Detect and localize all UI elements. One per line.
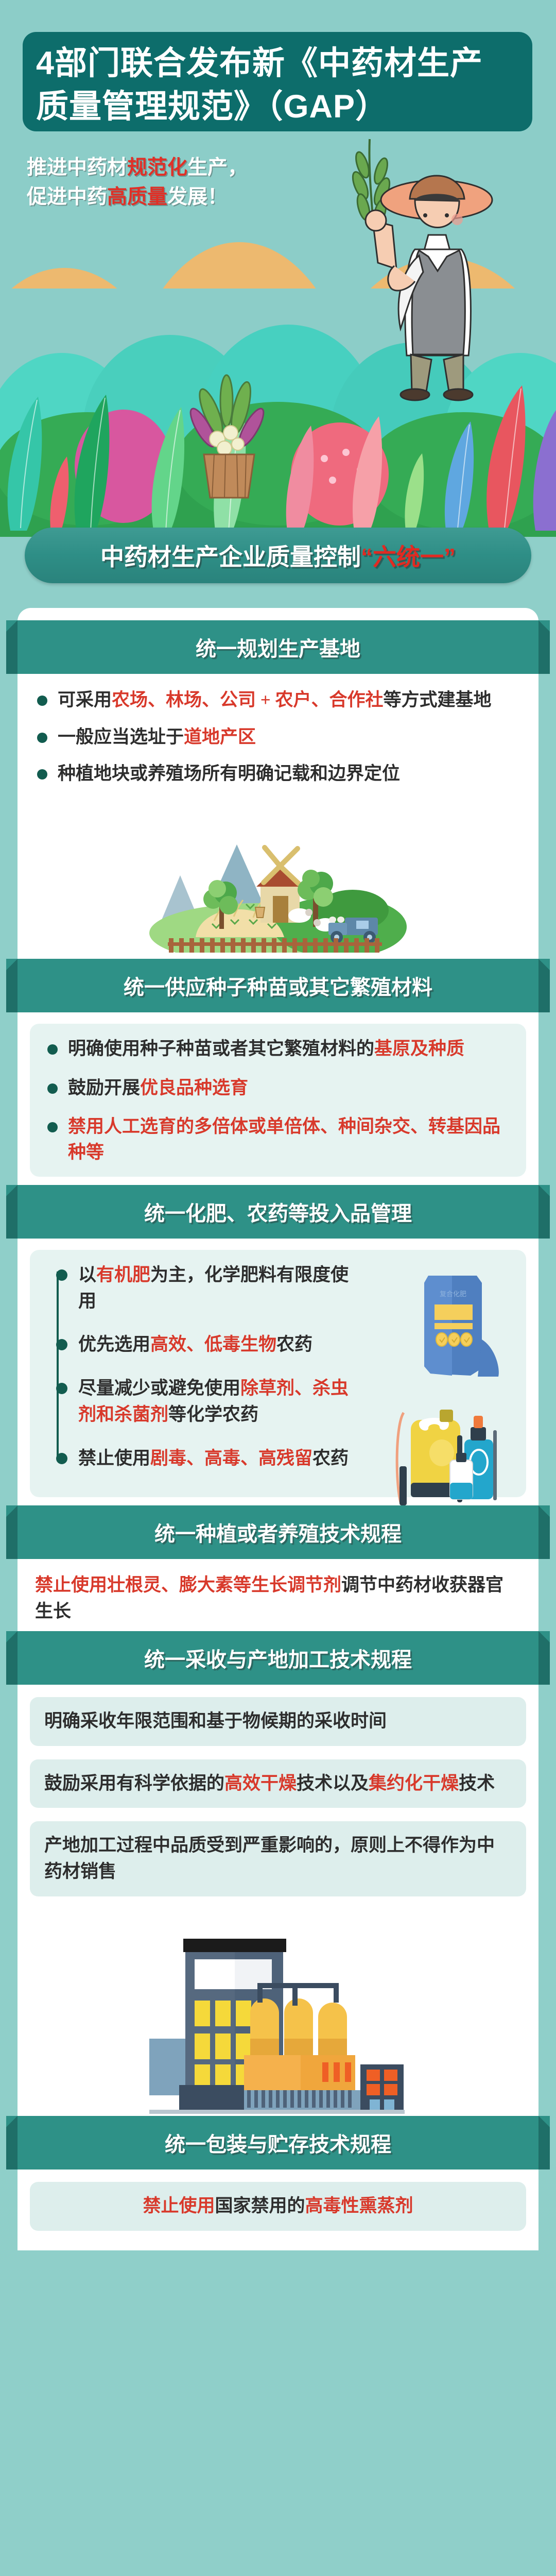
bullet-text: 禁止使用 bbox=[78, 1448, 150, 1468]
farmer-illustration bbox=[309, 134, 515, 402]
bullet-text: 种植地块或养殖场所有明确记载和边界定位 bbox=[58, 764, 400, 784]
hero-subtitle-line-1: 推进中药材规范化生产， bbox=[27, 154, 248, 183]
bullet-highlight: 高效、低毒生物 bbox=[150, 1334, 276, 1354]
list-item: 优先选用高效、低毒生物农药 bbox=[49, 1332, 358, 1358]
bullet-text: 优先选用 bbox=[78, 1334, 150, 1354]
bullet-highlight: 农场、林场、公司 + 农户、合作社 bbox=[112, 690, 383, 710]
section-header-unified-harvesting: 统一采收与产地加工技术规程 bbox=[6, 1631, 550, 1685]
info-card: 产地加工过程中品质受到严重影响的，原则上不得作为中药材销售 bbox=[30, 1821, 526, 1896]
info-card: 禁止使用国家禁用的高毒性熏蒸剂 bbox=[30, 2182, 526, 2231]
section-spacer bbox=[18, 2170, 538, 2182]
subtitle-text-d: 发展！ bbox=[167, 186, 228, 208]
infographic-page: 4部门联合发布新《中药材生产 质量管理规范》（GAP） 推进中药材规范化生产， … bbox=[0, 0, 556, 2576]
content-panel: 统一规划生产基地 可采用农场、林场、公司 + 农户、合作社等方式建基地 一般应当… bbox=[18, 608, 538, 2250]
section-header-unified-packaging: 统一包装与贮存技术规程 bbox=[6, 2116, 550, 2170]
hero-title-plate: 4部门联合发布新《中药材生产 质量管理规范》（GAP） bbox=[23, 32, 532, 131]
bullet-highlight: 剧毒、高毒、高残留 bbox=[150, 1448, 312, 1468]
info-card: 明确采收年限范围和基于物候期的采收时间 bbox=[30, 1697, 526, 1746]
section-title: 统一规划生产基地 bbox=[196, 632, 360, 662]
bullet-text: 农药 bbox=[312, 1448, 349, 1468]
pesticide-sprayer-illustration bbox=[392, 1404, 511, 1518]
section-header-unified-planning: 统一规划生产基地 bbox=[6, 620, 550, 674]
hero-banner: 4部门联合发布新《中药材生产 质量管理规范》（GAP） 推进中药材规范化生产， … bbox=[0, 0, 556, 537]
section-title: 统一化肥、农药等投入品管理 bbox=[144, 1197, 412, 1227]
paragraph-highlight: 壮根灵、膨大素等生长调节剂 bbox=[107, 1575, 341, 1595]
card-highlight: 高毒性熏蒸剂 bbox=[305, 2196, 413, 2216]
section-title: 统一供应种子种苗或其它繁殖材料 bbox=[124, 971, 432, 1001]
svg-text:复合化肥: 复合化肥 bbox=[440, 1290, 466, 1298]
card-text: 技术 bbox=[459, 1773, 495, 1793]
card-text: 明确采收年限范围和基于物候期的采收时间 bbox=[44, 1711, 387, 1731]
list-item: 禁止使用剧毒、高毒、高残留农药 bbox=[49, 1446, 358, 1472]
bullet-text: 可采用 bbox=[58, 690, 112, 710]
section-title: 统一包装与贮存技术规程 bbox=[165, 2128, 391, 2158]
bullet-highlight: 有机肥 bbox=[96, 1265, 150, 1285]
section-header-unified-input-management: 统一化肥、农药等投入品管理 bbox=[6, 1185, 550, 1239]
subtitle-text-c: 促进中药 bbox=[27, 186, 107, 208]
factory-illustration bbox=[88, 1910, 468, 2116]
list-item: 一般应当选址于道地产区 bbox=[35, 724, 521, 750]
info-card: 鼓励采用有科学依据的高效干燥技术以及集约化干燥技术 bbox=[30, 1759, 526, 1808]
hero-subtitle-line-2: 促进中药高质量发展！ bbox=[27, 183, 248, 212]
bullet-highlight: 道地产区 bbox=[184, 727, 256, 747]
card-text: 国家禁用的 bbox=[215, 2196, 305, 2216]
panel-top-spacer bbox=[18, 608, 538, 620]
hero-subtitle: 推进中药材规范化生产， 促进中药高质量发展！ bbox=[27, 154, 248, 212]
bullet-text: 等化学农药 bbox=[168, 1404, 258, 1425]
ribbon-label-highlight: “六统一” bbox=[361, 544, 456, 570]
farm-windmill-illustration bbox=[118, 798, 438, 953]
hero-title-line-1: 4部门联合发布新《中药材生产 bbox=[36, 42, 519, 85]
fertilizer-bag-illustration: 复合化肥 bbox=[405, 1267, 502, 1381]
section-ribbon-header: 中药材生产企业质量控制“六统一” bbox=[0, 520, 556, 587]
card-highlight: 高效干燥 bbox=[224, 1773, 297, 1793]
bullet-text: 农药 bbox=[276, 1334, 312, 1354]
bullet-text: 一般应当选址于 bbox=[58, 727, 184, 747]
bullet-highlight: 禁用人工选育的多倍体或单倍体、种间杂交、转基因品种等 bbox=[68, 1116, 500, 1162]
list-item: 可采用农场、林场、公司 + 农户、合作社等方式建基地 bbox=[35, 687, 521, 713]
list-item: 禁用人工选育的多倍体或单倍体、种间杂交、转基因品种等 bbox=[45, 1114, 511, 1165]
subtitle-text-a: 推进中药材 bbox=[27, 157, 127, 179]
card-text: 鼓励采用有科学依据的 bbox=[44, 1773, 224, 1793]
bullet-highlight: 优良品种选育 bbox=[140, 1078, 248, 1098]
bullet-list: 以有机肥为主，化学肥料有限度使用 优先选用高效、低毒生物农药 尽量减少或避免使用… bbox=[49, 1262, 358, 1472]
card-text: 技术以及 bbox=[297, 1773, 369, 1793]
ribbon-label-main: 中药材生产企业质量控制 bbox=[100, 544, 361, 570]
section-header-unified-seed-supply: 统一供应种子种苗或其它繁殖材料 bbox=[6, 959, 550, 1012]
section-header-unified-cultivation: 统一种植或者养殖技术规程 bbox=[6, 1505, 550, 1559]
subtitle-highlight-b: 高质量 bbox=[107, 186, 167, 208]
section-body-unified-input-management: 以有机肥为主，化学肥料有限度使用 优先选用高效、低毒生物农药 尽量减少或避免使用… bbox=[30, 1250, 526, 1498]
subtitle-highlight-a: 规范化 bbox=[127, 157, 187, 179]
ribbon-pill: 中药材生产企业质量控制“六统一” bbox=[25, 528, 531, 583]
bullet-list: 明确使用种子种苗或者其它繁殖材料的基原及种质 鼓励开展优良品种选育 禁用人工选育… bbox=[45, 1036, 511, 1165]
paragraph-highlight: 禁止使用 bbox=[35, 1575, 107, 1595]
list-item: 明确使用种子种苗或者其它繁殖材料的基原及种质 bbox=[45, 1036, 511, 1062]
card-text: 产地加工过程中品质受到严重影响的，原则上不得作为中药材销售 bbox=[44, 1835, 495, 1882]
section-paragraph: 禁止使用壮根灵、膨大素等生长调节剂调节中药材收获器官生长 bbox=[35, 1572, 521, 1625]
list-item: 以有机肥为主，化学肥料有限度使用 bbox=[49, 1262, 358, 1315]
section-body-unified-cultivation: 禁止使用壮根灵、膨大素等生长调节剂调节中药材收获器官生长 bbox=[18, 1559, 538, 1631]
list-item: 种植地块或养殖场所有明确记载和边界定位 bbox=[35, 761, 521, 787]
list-item: 鼓励开展优良品种选育 bbox=[45, 1075, 511, 1101]
bullet-text: 明确使用种子种苗或者其它繁殖材料的 bbox=[68, 1039, 374, 1059]
section-body-unified-seed-supply: 明确使用种子种苗或者其它繁殖材料的基原及种质 鼓励开展优良品种选育 禁用人工选育… bbox=[30, 1024, 526, 1177]
bullet-text: 鼓励开展 bbox=[68, 1078, 140, 1098]
bullet-text: 等方式建基地 bbox=[383, 690, 491, 710]
section-spacer bbox=[18, 1685, 538, 1697]
bullet-text: 以 bbox=[78, 1265, 96, 1285]
ribbon-label: 中药材生产企业质量控制“六统一” bbox=[100, 538, 456, 572]
section-title: 统一采收与产地加工技术规程 bbox=[144, 1643, 412, 1673]
section-title: 统一种植或者养殖技术规程 bbox=[154, 1517, 402, 1547]
bullet-text: 尽量减少或避免使用 bbox=[78, 1378, 240, 1398]
card-highlight: 集约化干燥 bbox=[369, 1773, 459, 1793]
list-item: 尽量减少或避免使用除草剂、杀虫剂和杀菌剂等化学农药 bbox=[49, 1376, 358, 1428]
subtitle-text-b: 生产， bbox=[187, 157, 248, 179]
bullet-highlight: 基原及种质 bbox=[374, 1039, 464, 1059]
bullet-list: 可采用农场、林场、公司 + 农户、合作社等方式建基地 一般应当选址于道地产区 种… bbox=[35, 687, 521, 787]
section-body-unified-planning: 可采用农场、林场、公司 + 农户、合作社等方式建基地 一般应当选址于道地产区 种… bbox=[18, 674, 538, 959]
hero-title-line-2: 质量管理规范》（GAP） bbox=[36, 86, 519, 128]
card-highlight: 禁止使用 bbox=[143, 2196, 215, 2216]
